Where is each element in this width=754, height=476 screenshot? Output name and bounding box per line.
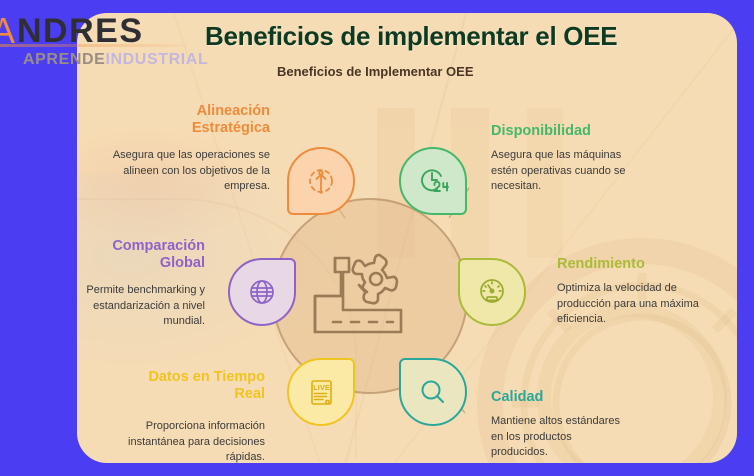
target-arrow-icon	[304, 164, 338, 198]
page-subtitle: Beneficios de Implementar OEE	[277, 64, 474, 79]
factory-gear-icon	[305, 250, 435, 340]
logo-tagline-first: APRENDE	[23, 51, 105, 68]
pin-bubble: LIVE	[287, 358, 355, 426]
logo-tagline-second: INDUSTRIAL	[105, 51, 208, 68]
live-badge-text: LIVE	[313, 383, 330, 392]
pin-disponibilidad[interactable]	[399, 147, 467, 215]
benefit-body-alineacion-estrategica: Asegura que las operaciones se alineen c…	[100, 148, 270, 195]
benefit-body-calidad: Mantiene altos estándares en los product…	[491, 414, 631, 461]
infographic-frame: A NDRES APRENDEINDUSTRIAL Beneficios de …	[0, 0, 754, 476]
pin-bubble	[287, 147, 355, 215]
live-report-icon: LIVE	[304, 375, 338, 409]
benefit-title-disponibilidad: Disponibilidad	[491, 123, 671, 140]
magnifier-icon	[416, 375, 450, 409]
pin-rendimiento[interactable]	[458, 258, 526, 326]
benefit-title-datos-en-tiempo-real: Datos en Tiempo Real	[110, 369, 265, 403]
benefit-title-calidad: Calidad	[491, 389, 661, 406]
pin-datos-en-tiempo-real[interactable]: LIVE	[287, 358, 355, 426]
pin-alineacion-estrategica[interactable]	[287, 147, 355, 215]
benefit-body-datos-en-tiempo-real: Proporciona información instantánea para…	[105, 419, 265, 466]
clock-24-icon	[416, 164, 450, 198]
benefit-title-rendimiento: Rendimiento	[557, 256, 727, 273]
pin-bubble	[458, 258, 526, 326]
pin-bubble	[399, 358, 467, 426]
benefit-body-disponibilidad: Asegura que las máquinas estén operativa…	[491, 148, 641, 195]
logo-underline	[0, 44, 187, 47]
logo-tagline: APRENDEINDUSTRIAL	[0, 51, 255, 69]
pin-bubble	[399, 147, 467, 215]
benefit-title-comparacion-global: Comparación Global	[65, 238, 205, 272]
page-title: Beneficios de implementar el OEE	[205, 21, 617, 52]
pin-calidad[interactable]	[399, 358, 467, 426]
benefit-title-alineacion-estrategica: Alineación Estratégica	[110, 103, 270, 137]
speedometer-icon	[475, 275, 509, 309]
pin-comparacion-global[interactable]	[228, 258, 296, 326]
benefit-body-rendimiento: Optimiza la velocidad de producción para…	[557, 281, 707, 328]
pin-bubble	[228, 258, 296, 326]
globe-icon	[245, 275, 279, 309]
benefit-body-comparacion-global: Permite benchmarking y estandarización a…	[60, 283, 205, 330]
